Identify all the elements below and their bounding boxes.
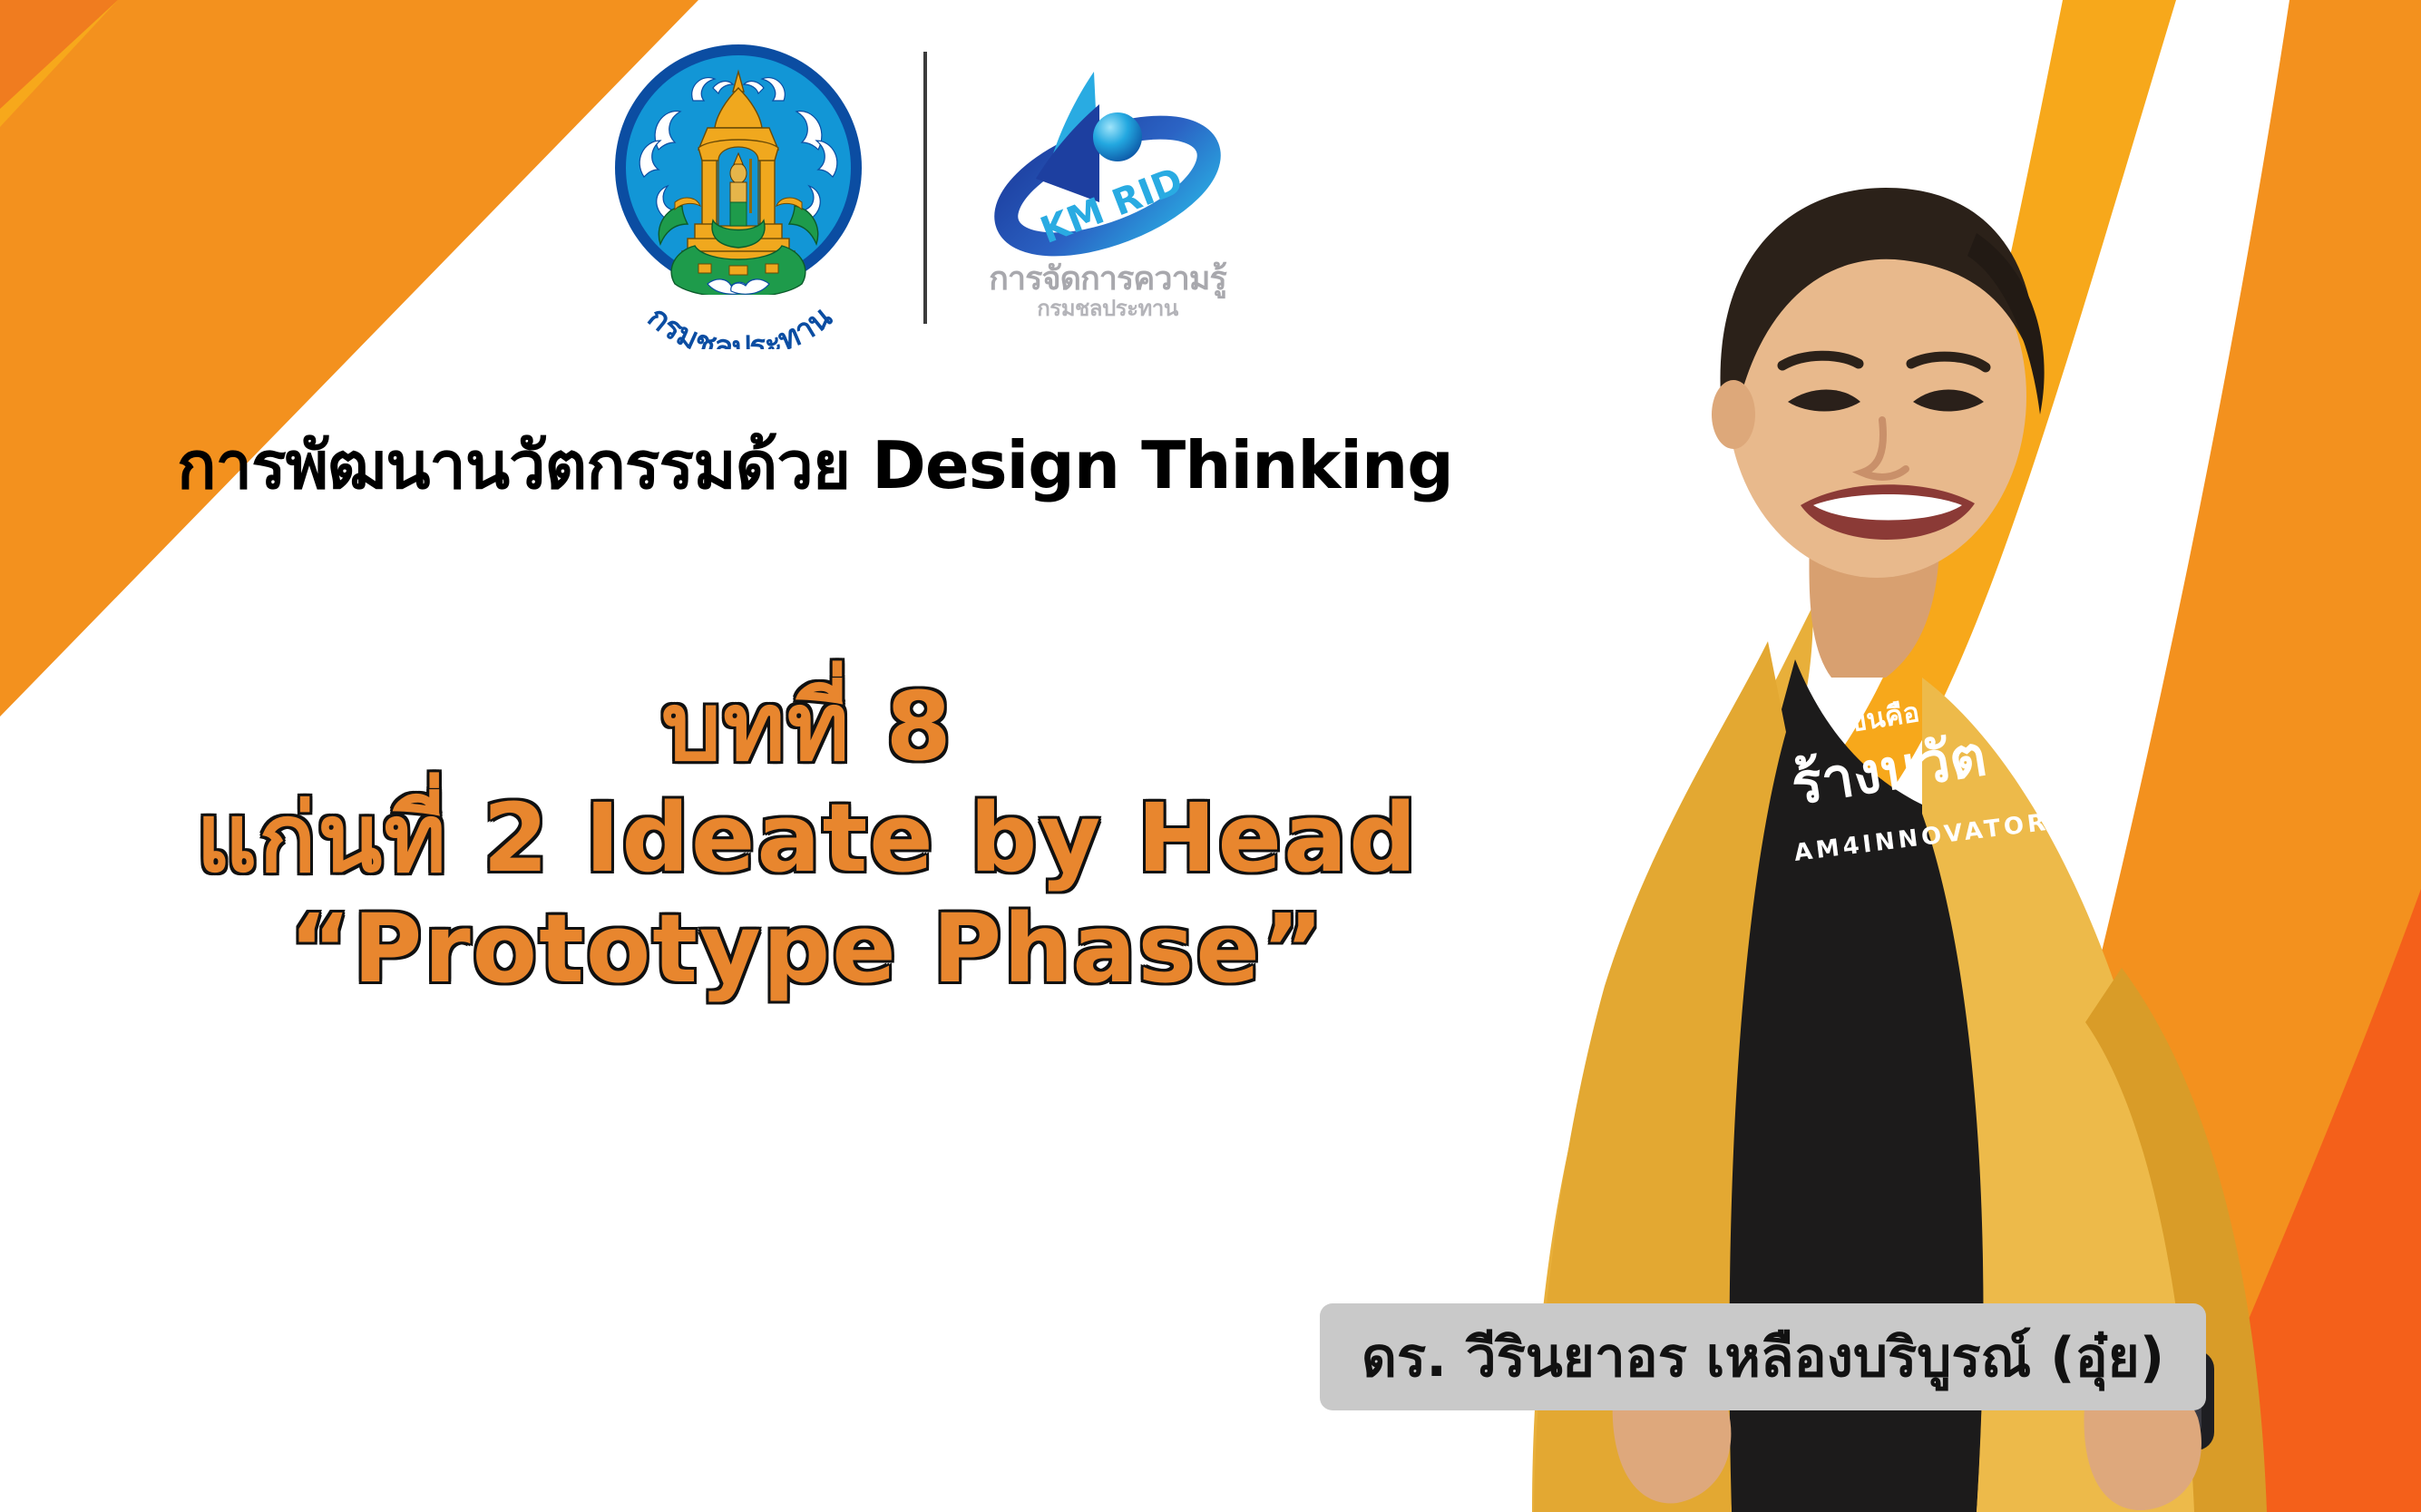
km-rid-caption: การจัดการความรู้ กรมชลประทาน <box>976 263 1239 319</box>
speaker-name: ดร. วีรินยาอร เหลืองบริบูรณ์ (อุ๋ย) <box>1362 1314 2164 1400</box>
speaker-name-plate: ดร. วีรินยาอร เหลืองบริบูรณ์ (อุ๋ย) <box>1320 1303 2206 1410</box>
shirt-text-line1: ขึ้นคือ <box>1845 691 1922 739</box>
km-caption-line1: การจัดการความรู้ <box>976 263 1239 296</box>
svg-text:กรมชลประทาน: กรมชลประทาน <box>640 299 839 349</box>
rid-logo: กรมชลประทาน <box>611 41 874 340</box>
km-caption-line2: กรมชลประทาน <box>976 298 1239 319</box>
km-rid-swoosh-logo-icon: KM RID <box>985 50 1230 268</box>
rid-caption-text: กรมชลประทาน <box>640 299 839 349</box>
km-rid-logo: KM RID การจัดการความรู้ กรมชลประทาน <box>976 41 1239 340</box>
logo-row: กรมชลประทาน <box>581 41 1270 358</box>
presenter-portrait: ขึ้นคือ ร้างนวัต AM4INNOVATOR <box>1342 97 2421 1512</box>
rid-logo-caption: กรมชลประทาน <box>606 268 874 349</box>
royal-irrigation-department-seal-icon <box>611 41 865 295</box>
slide-canvas: กรมชลประทาน <box>0 0 2421 1512</box>
logo-divider <box>923 52 927 324</box>
